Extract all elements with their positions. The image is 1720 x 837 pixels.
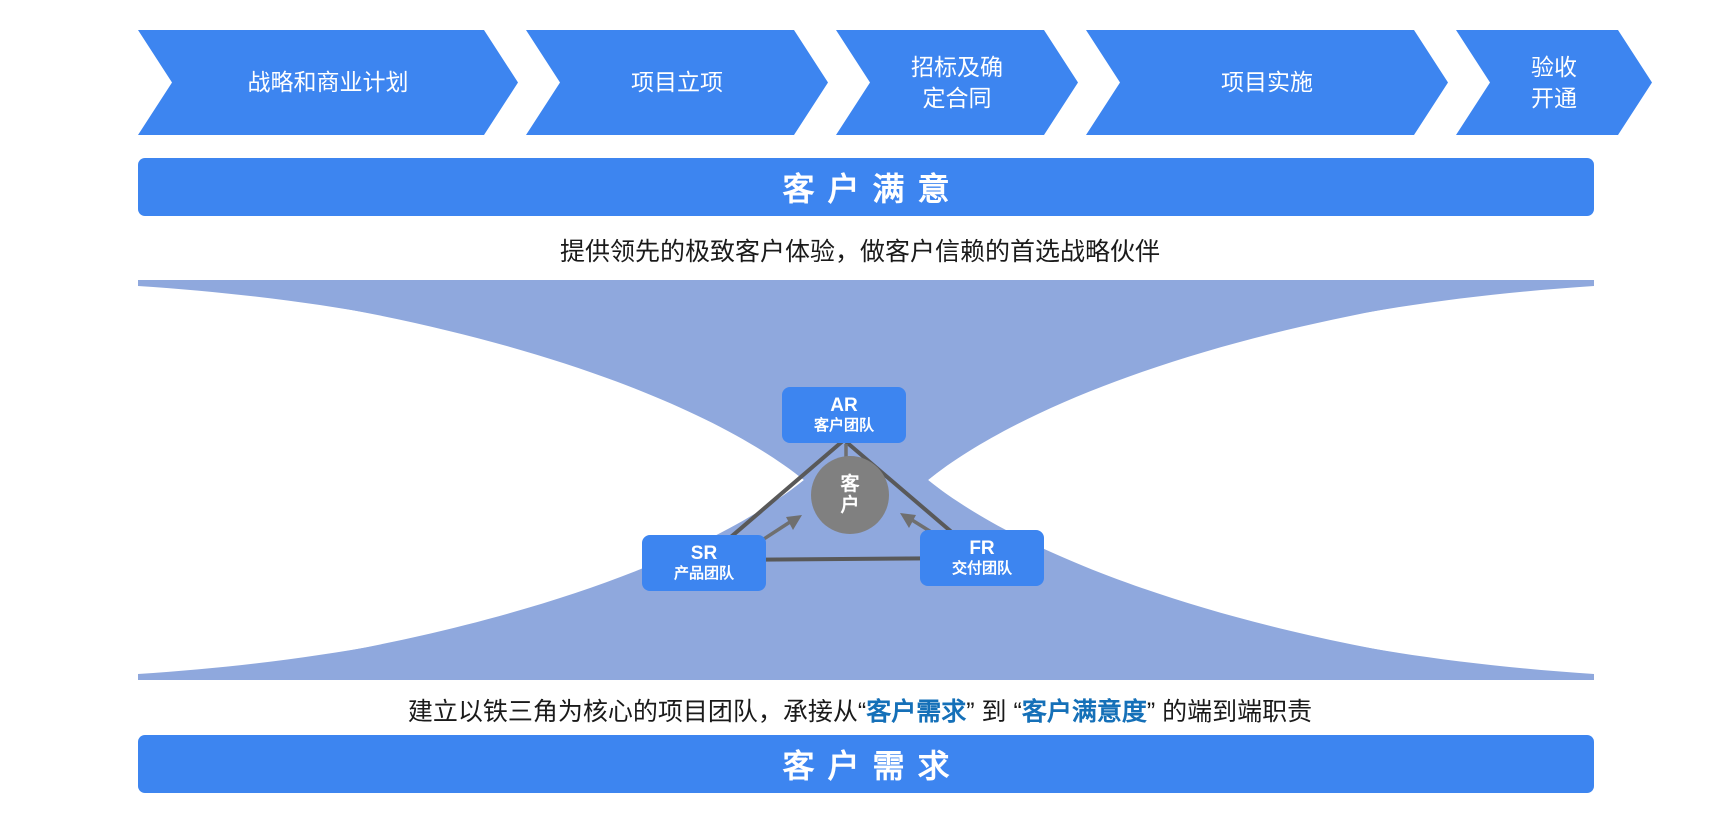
phase-chevron-4-label: 项目实施 <box>1199 67 1335 97</box>
iron-triangle-diagram: 客 户 AR 客户团队 SR 产品团队 FR 交付团队 <box>640 370 1080 620</box>
top-caption-text: 提供领先的极致客户体验，做客户信赖的首选战略伙伴 <box>560 238 1160 266</box>
customer-demand-banner-label: 客户需求 <box>769 741 962 787</box>
phase-chevron-2-label: 项目立项 <box>609 67 745 97</box>
phase-chevron-5-label: 验收 开通 <box>1509 52 1599 113</box>
slide-canvas: 战略和商业计划 项目立项 招标及确 定合同 项目实施 验收 开通 客户满意 提供… <box>0 0 1720 837</box>
bottom-caption-highlight-customer-demand: 客户需求 <box>866 698 966 726</box>
bottom-caption-quote-open-2: “ <box>1013 698 1021 726</box>
role-node-sr-sub: 产品团队 <box>674 565 734 583</box>
customer-satisfaction-banner: 客户满意 <box>138 158 1594 216</box>
phase-chevron-strip: 战略和商业计划 项目立项 招标及确 定合同 项目实施 验收 开通 <box>138 30 1594 135</box>
role-node-ar-code: AR <box>830 395 857 417</box>
customer-center-line2: 户 <box>840 495 859 516</box>
phase-chevron-1-label: 战略和商业计划 <box>226 67 431 97</box>
phase-chevron-2[interactable]: 项目立项 <box>526 30 828 135</box>
role-node-fr[interactable]: FR 交付团队 <box>920 530 1044 586</box>
bottom-caption-part1: 建立以铁三角为核心的项目团队，承接从 <box>408 698 858 726</box>
phase-chevron-5[interactable]: 验收 开通 <box>1456 30 1652 135</box>
bottom-caption-part2: 的端到端职责 <box>1155 698 1312 726</box>
bottom-caption-highlight-customer-satisfaction: 客户满意度 <box>1022 698 1147 726</box>
bottom-caption: 建立以铁三角为核心的项目团队，承接从“客户需求” 到 “客户满意度” 的端到端职… <box>0 692 1720 728</box>
phase-chevron-4[interactable]: 项目实施 <box>1086 30 1448 135</box>
customer-demand-banner: 客户需求 <box>138 735 1594 793</box>
bottom-caption-middle: 到 <box>975 698 1014 726</box>
role-node-ar[interactable]: AR 客户团队 <box>782 387 906 443</box>
role-node-sr[interactable]: SR 产品团队 <box>642 535 766 591</box>
bottom-caption-quote-close-2: ” <box>1147 698 1155 726</box>
role-node-sr-code: SR <box>691 543 717 565</box>
role-node-fr-code: FR <box>969 538 994 560</box>
phase-chevron-3-label: 招标及确 定合同 <box>889 52 1025 113</box>
role-node-fr-sub: 交付团队 <box>952 560 1012 578</box>
phase-chevron-3[interactable]: 招标及确 定合同 <box>836 30 1078 135</box>
phase-chevron-1[interactable]: 战略和商业计划 <box>138 30 518 135</box>
bottom-caption-quote-close-1: ” <box>966 698 974 726</box>
top-caption: 提供领先的极致客户体验，做客户信赖的首选战略伙伴 <box>0 232 1720 268</box>
role-node-ar-sub: 客户团队 <box>814 417 874 435</box>
customer-center-node: 客 户 <box>811 456 889 534</box>
customer-satisfaction-banner-label: 客户满意 <box>769 164 962 210</box>
bottom-caption-quote-open-1: “ <box>858 698 866 726</box>
customer-center-line1: 客 <box>840 474 859 495</box>
